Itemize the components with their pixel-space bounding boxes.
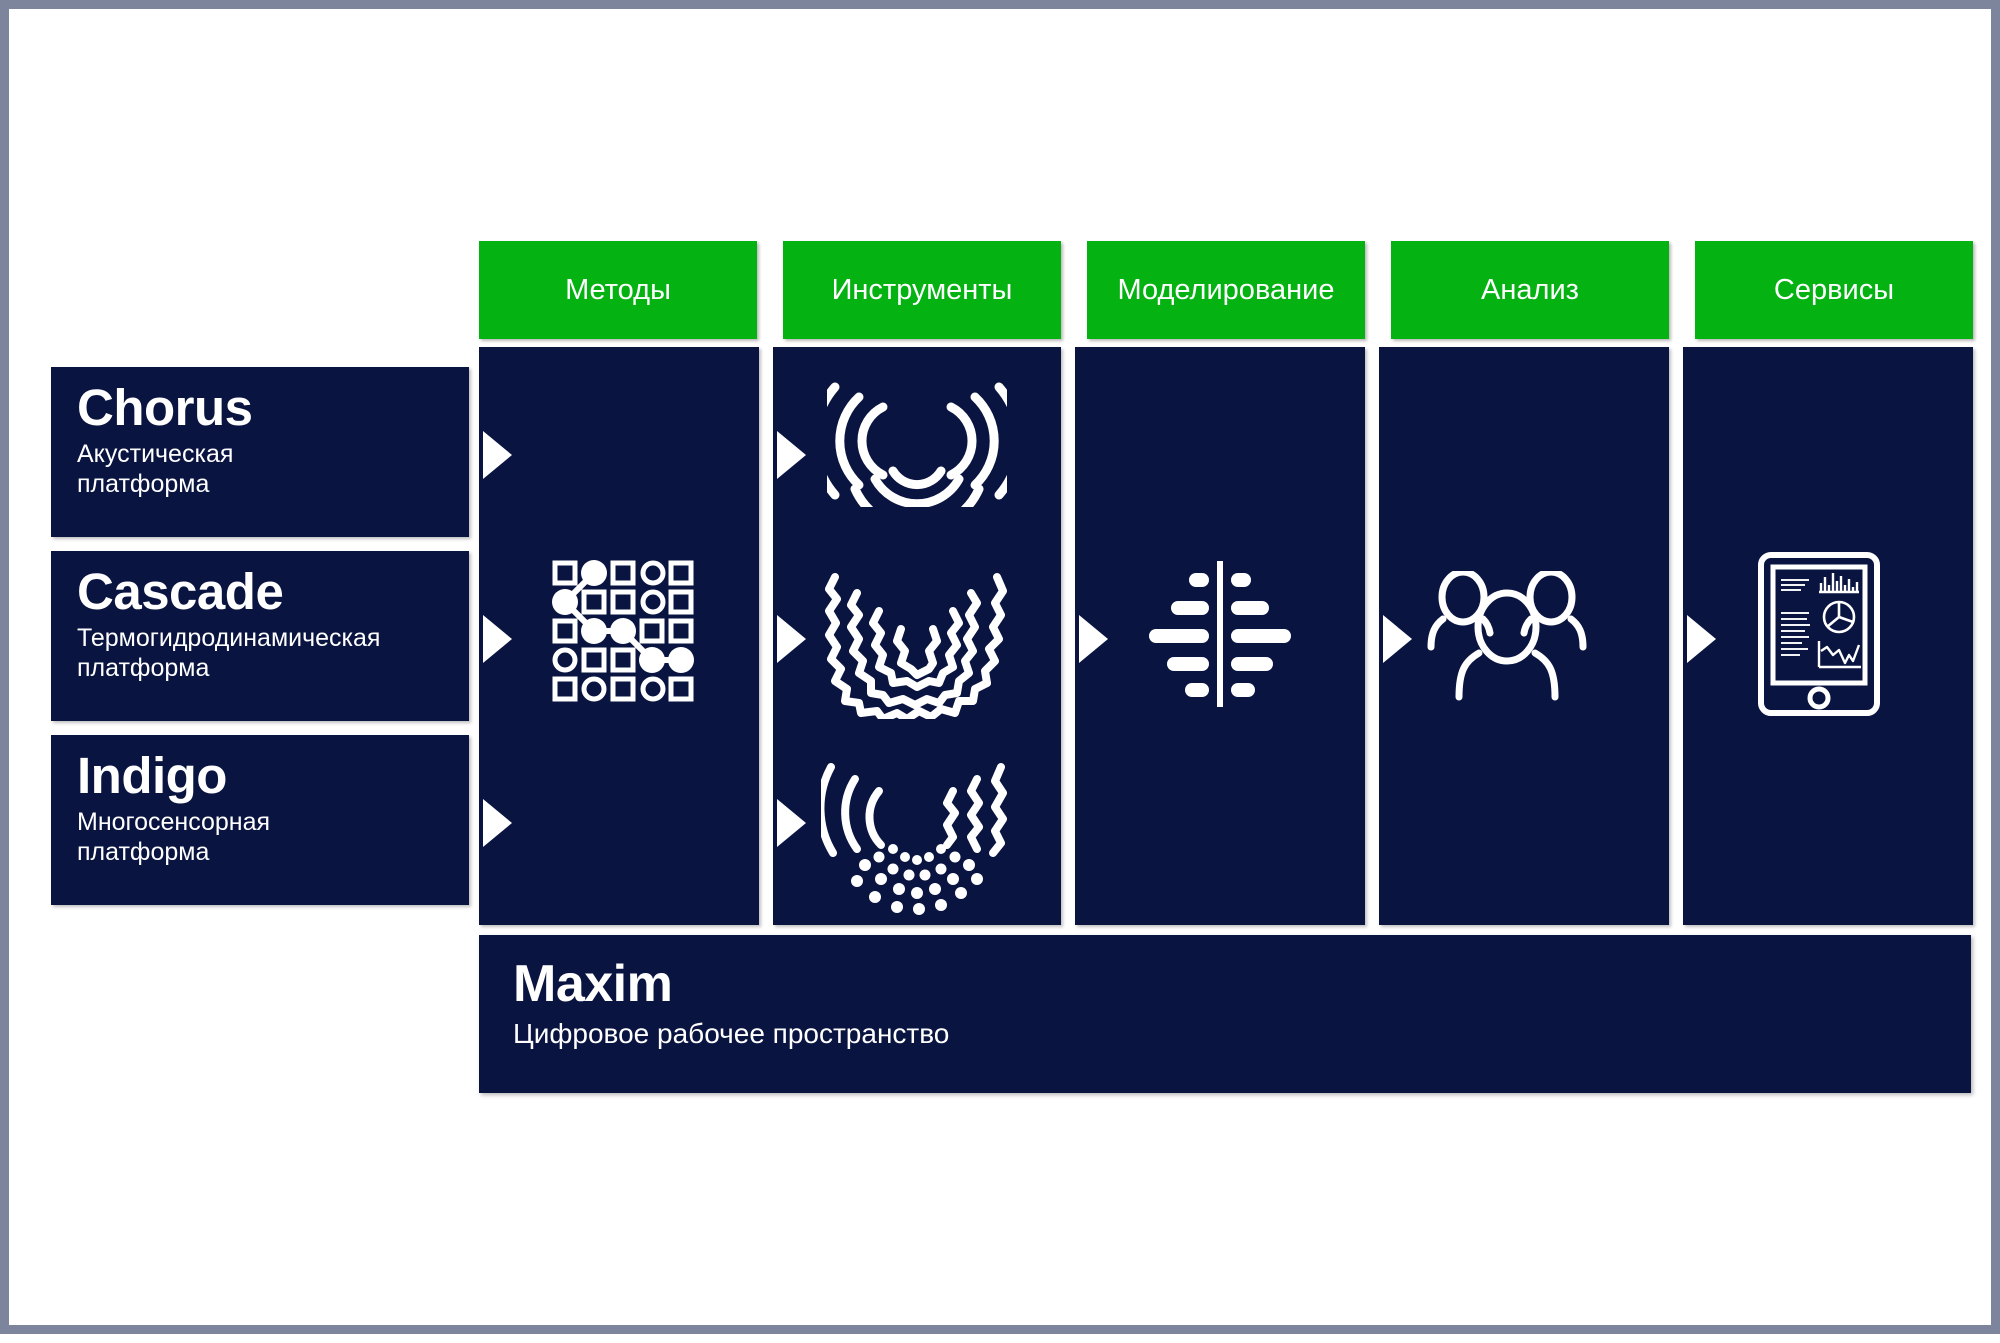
smooth-radial-waves-icon xyxy=(827,367,1007,507)
column-header-label: Сервисы xyxy=(1774,274,1894,307)
column-header-services[interactable]: Сервисы xyxy=(1695,241,1973,339)
arrow-indigo-to-methods xyxy=(483,799,512,847)
maxim-subtitle: Цифровое рабочее пространство xyxy=(513,1018,1971,1050)
column-header-label: Методы xyxy=(565,274,671,307)
platform-name: Cascade xyxy=(77,565,469,619)
platform-subtitle: Акустическая платформа xyxy=(77,439,469,501)
network-nodes-icon xyxy=(549,557,695,703)
arrow-modeling-to-analysis xyxy=(1383,615,1412,663)
arrow-chorus-to-methods xyxy=(483,431,512,479)
diagram-stage: Методы Инструменты Моделирование Анализ … xyxy=(9,9,2000,1343)
arrow-methods-to-tools-3 xyxy=(777,799,806,847)
maxim-name: Maxim xyxy=(513,957,1971,1012)
diagram-canvas: Методы Инструменты Моделирование Анализ … xyxy=(0,0,2000,1334)
platform-name: Chorus xyxy=(77,381,469,435)
platform-card-chorus[interactable]: Chorus Акустическая платформа xyxy=(51,367,469,537)
column-header-modeling[interactable]: Моделирование xyxy=(1087,241,1365,339)
column-header-label: Инструменты xyxy=(832,274,1013,307)
tablet-dashboard-icon xyxy=(1757,551,1881,717)
platform-card-indigo[interactable]: Indigo Многосенсорная платформа xyxy=(51,735,469,905)
platform-subtitle: Многосенсорная платформа xyxy=(77,807,469,869)
platform-card-cascade[interactable]: Cascade Термогидродинамическая платформа xyxy=(51,551,469,721)
mesh-model-icon xyxy=(1147,561,1293,707)
arrow-methods-to-tools-1 xyxy=(777,431,806,479)
zigzag-radial-waves-icon xyxy=(821,569,1011,719)
column-header-methods[interactable]: Методы xyxy=(479,241,757,339)
column-header-analysis[interactable]: Анализ xyxy=(1391,241,1669,339)
platform-subtitle: Термогидродинамическая платформа xyxy=(77,623,469,685)
arrow-tools-to-modeling xyxy=(1079,615,1108,663)
column-header-tools[interactable]: Инструменты xyxy=(783,241,1061,339)
multisensor-waves-dots-icon xyxy=(821,757,1011,917)
people-group-icon xyxy=(1427,571,1587,701)
arrow-analysis-to-services xyxy=(1687,615,1716,663)
column-header-label: Моделирование xyxy=(1118,274,1335,307)
platform-name: Indigo xyxy=(77,749,469,803)
maxim-footer-card[interactable]: Maxim Цифровое рабочее пространство xyxy=(479,935,1971,1093)
arrow-methods-to-tools-2 xyxy=(777,615,806,663)
column-header-label: Анализ xyxy=(1481,274,1579,307)
arrow-cascade-to-methods xyxy=(483,615,512,663)
